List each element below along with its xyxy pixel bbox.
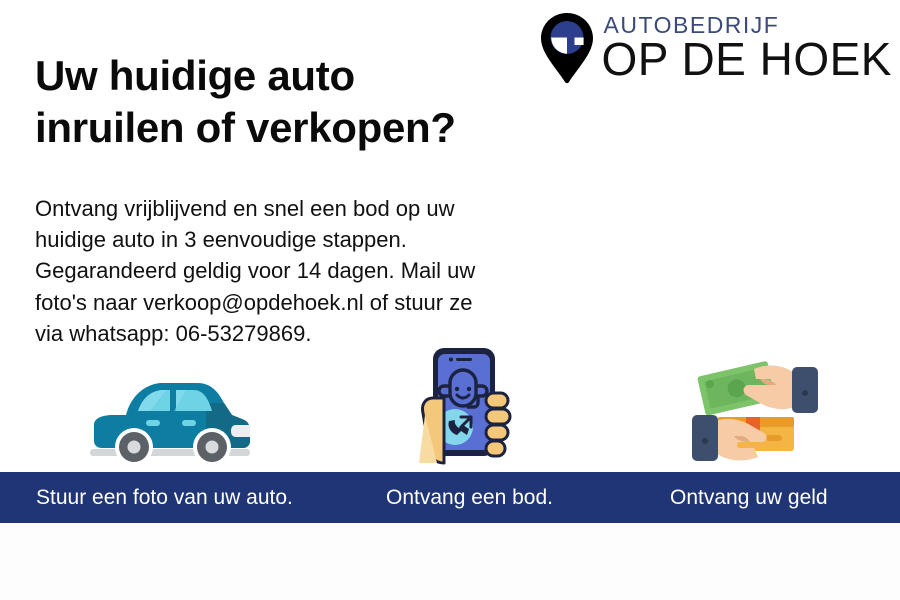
steps-bar: Stuur een foto van uw auto. Ontvang een …	[0, 472, 900, 523]
step-1-illustration	[20, 363, 320, 472]
step-illustrations	[0, 348, 900, 472]
brand-name-bottom: OP DE HOEK	[602, 36, 892, 82]
money-exchange-hands-icon	[684, 345, 826, 472]
car-icon	[86, 363, 254, 472]
step-3-illustration	[620, 345, 890, 472]
step-label-1: Stuur een foto van uw auto.	[36, 472, 293, 523]
step-label-2: Ontvang een bod.	[386, 472, 553, 523]
brand-wordmark: AUTOBEDRIJF OP DE HOEK	[602, 14, 892, 82]
step-2-illustration	[330, 345, 600, 472]
promo-banner: AUTOBEDRIJF OP DE HOEK Uw huidige auto i…	[0, 0, 900, 600]
body-text: Ontvang vrijblijvend en snel een bod op …	[35, 193, 475, 349]
page-title: Uw huidige auto inruilen of verkopen?	[35, 50, 456, 154]
smartphone-support-call-icon	[411, 345, 519, 472]
step-label-3: Ontvang uw geld	[670, 472, 828, 523]
map-pin-icon	[538, 12, 596, 84]
brand-logo: AUTOBEDRIJF OP DE HOEK	[538, 12, 892, 84]
footer-spacer	[0, 523, 900, 600]
